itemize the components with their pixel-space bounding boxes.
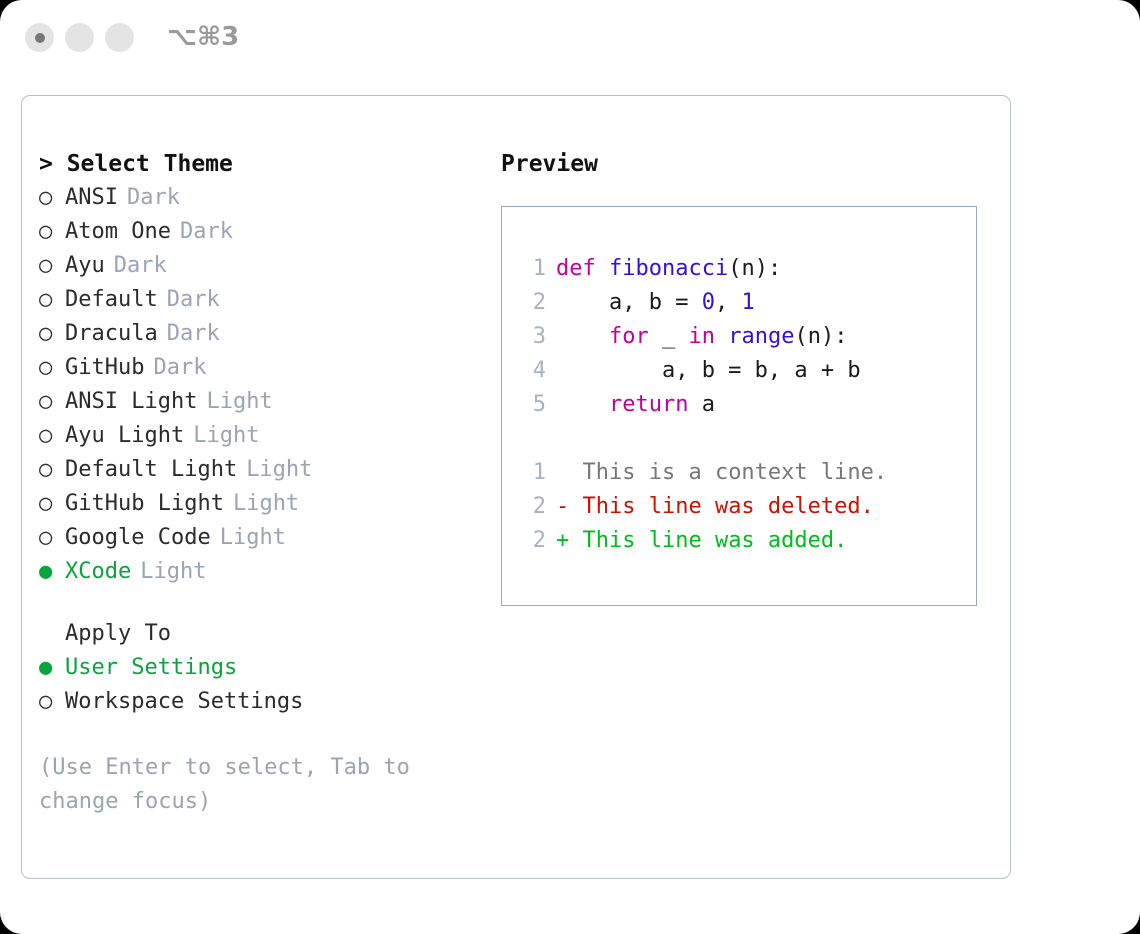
- line-number: 1: [520, 252, 546, 286]
- window-dot-2[interactable]: [65, 23, 94, 52]
- code-token: 1: [741, 290, 754, 315]
- theme-item-default-light[interactable]: ○Default LightLight: [39, 453, 469, 487]
- preview-panel: Preview 1def fibonacci(n):2 a, b = 0, 13…: [501, 147, 991, 606]
- code-token: a, b = b, a + b: [556, 358, 861, 383]
- theme-selection-panel: > Select Theme ○ANSIDark○Atom OneDark○Ay…: [39, 147, 469, 819]
- theme-item-label: Ayu Light: [65, 419, 184, 453]
- theme-item-ansi-light[interactable]: ○ANSI LightLight: [39, 385, 469, 419]
- code-token: [715, 324, 728, 349]
- radio-empty-icon: ○: [39, 385, 65, 419]
- theme-item-default[interactable]: ○DefaultDark: [39, 283, 469, 317]
- diff-marker: [556, 460, 569, 485]
- radio-empty-icon: ○: [39, 215, 65, 249]
- theme-item-atom-one[interactable]: ○Atom OneDark: [39, 215, 469, 249]
- code-token: return: [609, 392, 688, 417]
- diff-line-add: 2+ This line was added.: [520, 524, 976, 558]
- diff-line-del: 2- This line was deleted.: [520, 490, 976, 524]
- select-theme-header: > Select Theme: [39, 147, 469, 181]
- theme-variant-tag: Dark: [114, 249, 167, 283]
- theme-item-dracula[interactable]: ○DraculaDark: [39, 317, 469, 351]
- diff-marker: +: [556, 528, 569, 553]
- theme-item-label: Google Code: [65, 521, 211, 555]
- code-token: [556, 324, 609, 349]
- window-dot-active-indicator: [35, 33, 45, 43]
- theme-variant-tag: Light: [233, 487, 299, 521]
- apply-to-item-user-settings[interactable]: ●User Settings: [39, 651, 469, 685]
- theme-item-github-light[interactable]: ○GitHub LightLight: [39, 487, 469, 521]
- radio-empty-icon: ○: [39, 351, 65, 385]
- theme-item-google-code[interactable]: ○Google CodeLight: [39, 521, 469, 555]
- apply-to-item-workspace-settings[interactable]: ○Workspace Settings: [39, 685, 469, 719]
- code-line: 2 a, b = 0, 1: [520, 286, 976, 320]
- title-bar: ⌥⌘3: [0, 0, 1140, 78]
- code-token: def: [556, 256, 596, 281]
- theme-item-label: Ayu: [65, 249, 105, 283]
- diff-marker: -: [556, 494, 569, 519]
- theme-item-ayu-light[interactable]: ○Ayu LightLight: [39, 419, 469, 453]
- window-controls: [25, 23, 134, 52]
- radio-empty-icon: ○: [39, 453, 65, 487]
- radio-empty-icon: ○: [39, 487, 65, 521]
- theme-variant-tag: Light: [140, 555, 206, 589]
- radio-empty-icon: ○: [39, 317, 65, 351]
- theme-item-label: GitHub Light: [65, 487, 224, 521]
- app-window: > Select Theme ○ANSIDark○Atom OneDark○Ay…: [21, 95, 1011, 879]
- theme-item-label: Default Light: [65, 453, 237, 487]
- code-token: [596, 256, 609, 281]
- code-diff-gap: [520, 422, 976, 456]
- radio-empty-icon: ○: [39, 249, 65, 283]
- radio-selected-icon: ●: [39, 555, 65, 589]
- code-token: (n):: [728, 256, 781, 281]
- line-number: 1: [520, 456, 546, 490]
- radio-empty-icon: ○: [39, 685, 65, 719]
- window-dot-3[interactable]: [105, 23, 134, 52]
- theme-variant-tag: Light: [246, 453, 312, 487]
- theme-variant-tag: Light: [220, 521, 286, 555]
- theme-variant-tag: Dark: [167, 283, 220, 317]
- theme-item-label: XCode: [65, 555, 131, 589]
- code-token: in: [688, 324, 715, 349]
- diff-text: This line was added.: [569, 528, 847, 553]
- theme-variant-tag: Dark: [153, 351, 206, 385]
- theme-list: ○ANSIDark○Atom OneDark○AyuDark○DefaultDa…: [39, 181, 469, 589]
- theme-item-label: Default: [65, 283, 158, 317]
- radio-empty-icon: ○: [39, 521, 65, 555]
- code-token: fibonacci: [609, 256, 728, 281]
- theme-item-xcode[interactable]: ●XCodeLight: [39, 555, 469, 589]
- theme-item-label: ANSI Light: [65, 385, 197, 419]
- code-line: 1def fibonacci(n):: [520, 252, 976, 286]
- keyboard-shortcut-label: ⌥⌘3: [167, 22, 239, 52]
- code-preview-box: 1def fibonacci(n):2 a, b = 0, 13 for _ i…: [501, 206, 977, 606]
- diff-line-ctx: 1 This is a context line.: [520, 456, 976, 490]
- line-number: 4: [520, 354, 546, 388]
- line-number: 3: [520, 320, 546, 354]
- code-token: a, b =: [556, 290, 702, 315]
- theme-variant-tag: Light: [206, 385, 272, 419]
- code-token: _: [649, 324, 689, 349]
- code-token: for: [609, 324, 649, 349]
- apply-to-item-label: Workspace Settings: [65, 685, 303, 719]
- screenshot-canvas: ⌥⌘3 > Select Theme ○ANSIDark○Atom OneDar…: [0, 0, 1140, 934]
- radio-empty-icon: ○: [39, 283, 65, 317]
- radio-empty-icon: ○: [39, 181, 65, 215]
- keyboard-hint: (Use Enter to select, Tab to change focu…: [39, 751, 439, 819]
- section-spacer: [39, 589, 469, 617]
- code-line: 4 a, b = b, a + b: [520, 354, 976, 388]
- theme-variant-tag: Dark: [127, 181, 180, 215]
- theme-variant-tag: Light: [193, 419, 259, 453]
- theme-variant-tag: Dark: [167, 317, 220, 351]
- line-number: 2: [520, 286, 546, 320]
- code-line: 5 return a: [520, 388, 976, 422]
- line-number: 5: [520, 388, 546, 422]
- apply-to-item-label: User Settings: [65, 651, 237, 685]
- theme-item-label: ANSI: [65, 181, 118, 215]
- theme-item-label: GitHub: [65, 351, 144, 385]
- diff-text: This line was deleted.: [569, 494, 874, 519]
- theme-item-ayu[interactable]: ○AyuDark: [39, 249, 469, 283]
- code-line: 3 for _ in range(n):: [520, 320, 976, 354]
- apply-to-header: Apply To: [39, 617, 469, 651]
- code-token: [556, 392, 609, 417]
- theme-item-ansi[interactable]: ○ANSIDark: [39, 181, 469, 215]
- radio-empty-icon: ○: [39, 419, 65, 453]
- diff-sample: 1 This is a context line.2- This line wa…: [520, 456, 976, 558]
- code-sample: 1def fibonacci(n):2 a, b = 0, 13 for _ i…: [520, 252, 976, 422]
- theme-variant-tag: Dark: [180, 215, 233, 249]
- radio-selected-icon: ●: [39, 651, 65, 685]
- code-token: a: [688, 392, 715, 417]
- code-token: (n):: [794, 324, 847, 349]
- diff-text: This is a context line.: [569, 460, 887, 485]
- apply-to-list: ●User Settings○Workspace Settings: [39, 651, 469, 719]
- theme-item-label: Atom One: [65, 215, 171, 249]
- theme-item-label: Dracula: [65, 317, 158, 351]
- code-token: 0: [702, 290, 715, 315]
- window-dot-1[interactable]: [25, 23, 54, 52]
- theme-item-github[interactable]: ○GitHubDark: [39, 351, 469, 385]
- code-token: range: [728, 324, 794, 349]
- code-token: ,: [715, 290, 742, 315]
- line-number: 2: [520, 524, 546, 558]
- preview-title: Preview: [501, 147, 991, 181]
- line-number: 2: [520, 490, 546, 524]
